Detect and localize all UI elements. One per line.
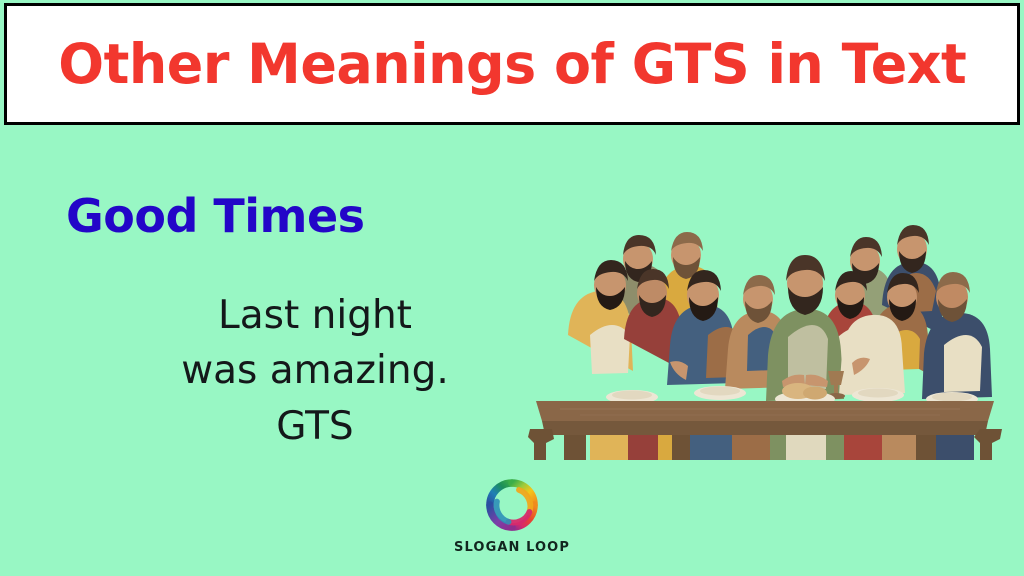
- figure-mid-left-a: [568, 260, 633, 374]
- rainbow-loop-icon: [483, 476, 541, 534]
- page-title: Other Meanings of GTS in Text: [58, 37, 966, 92]
- brand-logo: SLOGAN LOOP: [0, 476, 1024, 555]
- example-message-line-2: was amazing.: [120, 343, 510, 398]
- title-banner: Other Meanings of GTS in Text: [4, 3, 1020, 125]
- meaning-heading: Good Times: [66, 193, 365, 239]
- example-message-line-3: GTS: [120, 399, 510, 454]
- last-supper-illustration: [520, 185, 1010, 460]
- slide-canvas: Other Meanings of GTS in Text Good Times…: [0, 0, 1024, 576]
- example-message-line-1: Last night: [120, 288, 510, 343]
- brand-wordmark: SLOGAN LOOP: [454, 540, 570, 555]
- example-message: Last night was amazing. GTS: [120, 288, 510, 454]
